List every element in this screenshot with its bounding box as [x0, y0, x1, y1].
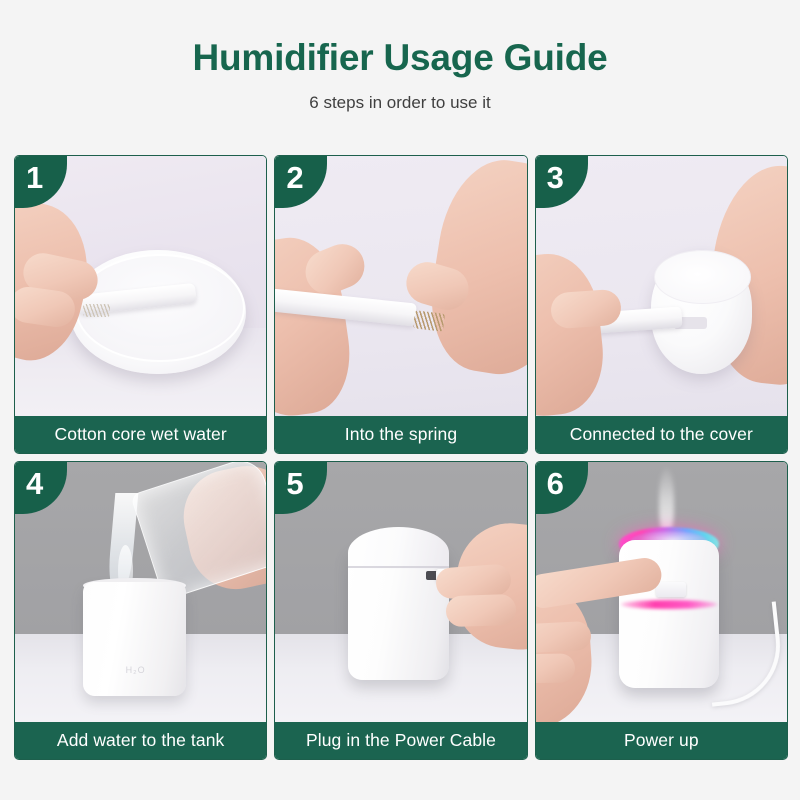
step-number: 4	[26, 468, 43, 499]
spring-icon	[413, 310, 445, 332]
finger-icon	[446, 593, 517, 627]
step-caption-2: Into the spring	[275, 416, 526, 453]
humidifier-cap-icon	[348, 527, 449, 569]
steps-grid: 1 Cotton core wet water 2 Into the sprin…	[14, 155, 788, 760]
led-glow-band-icon	[621, 600, 717, 609]
step-number: 5	[286, 468, 303, 499]
power-button-icon[interactable]	[656, 582, 686, 598]
step-number: 6	[547, 468, 564, 499]
page-subtitle: 6 steps in order to use it	[0, 93, 800, 113]
step-card-4[interactable]: H₂O 4 Add water to the tank	[14, 461, 267, 760]
step-card-3[interactable]: 3 Connected to the cover	[535, 155, 788, 454]
mist-icon	[659, 467, 674, 535]
infographic-page: Humidifier Usage Guide 6 steps in order …	[0, 0, 800, 800]
wick-coil-icon	[83, 304, 111, 317]
page-title: Humidifier Usage Guide	[0, 38, 800, 79]
step-card-2[interactable]: 2 Into the spring	[274, 155, 527, 454]
step-caption-3: Connected to the cover	[536, 416, 787, 453]
step-card-1[interactable]: 1 Cotton core wet water	[14, 155, 267, 454]
step-card-5[interactable]: 5 Plug in the Power Cable	[274, 461, 527, 760]
step-number: 1	[26, 162, 43, 193]
step-number: 3	[547, 162, 564, 193]
step-number: 2	[286, 162, 303, 193]
water-tank-icon	[83, 582, 186, 696]
step-card-6[interactable]: 6 Power up	[535, 461, 788, 760]
tank-label: H₂O	[111, 665, 161, 675]
step-caption-5: Plug in the Power Cable	[275, 722, 526, 759]
cover-top-icon	[654, 250, 752, 304]
step-caption-6: Power up	[536, 722, 787, 759]
humidifier-seam-icon	[348, 566, 449, 568]
step-caption-4: Add water to the tank	[15, 722, 266, 759]
page-header: Humidifier Usage Guide 6 steps in order …	[0, 0, 800, 113]
step-caption-1: Cotton core wet water	[15, 416, 266, 453]
hand-icon	[536, 249, 609, 416]
